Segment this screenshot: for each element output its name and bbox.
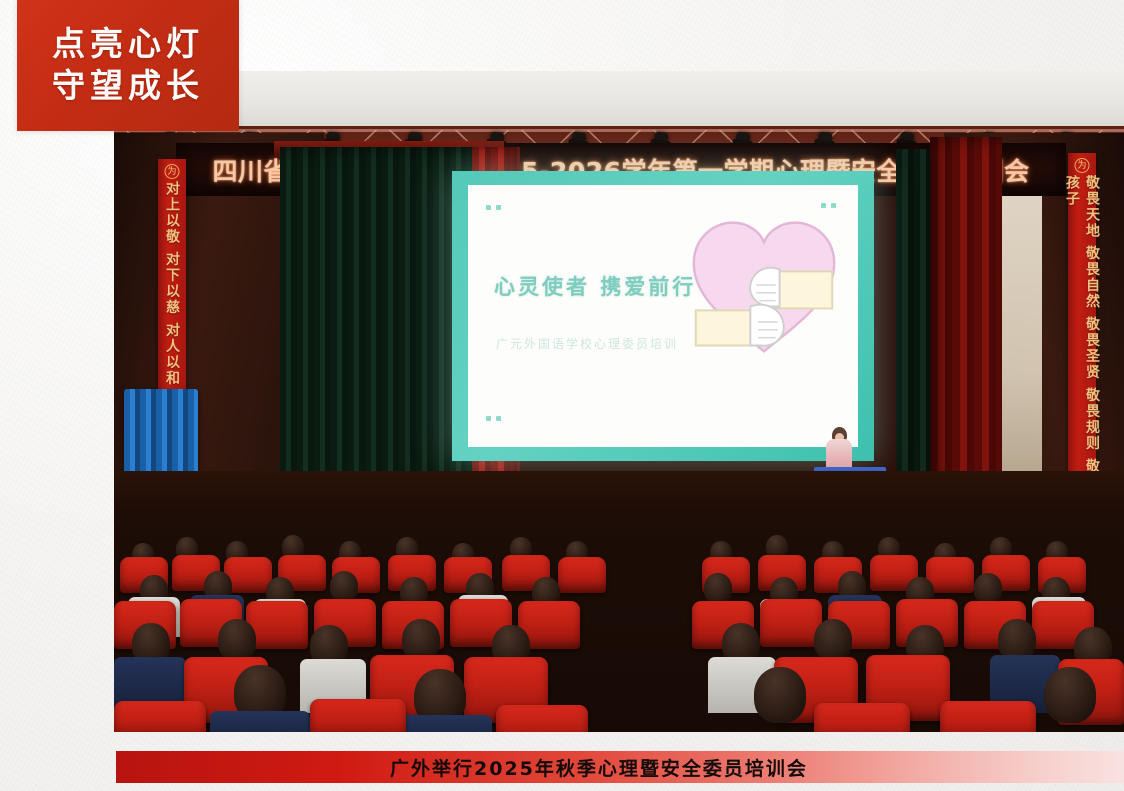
slide-title: 心灵使者 携爱前行 xyxy=(494,271,696,301)
seal-icon: 为 xyxy=(1075,158,1090,173)
event-photo: 四川省广元外国语学校2025-2026学年第一学期心理暨安全委员培训会 为 对上… xyxy=(114,71,1124,732)
title-line-1: 点亮心灯 xyxy=(52,25,204,64)
slide: 心灵使者 携爱前行 广元外国语学校心理委员培训 xyxy=(468,185,858,447)
caption-bar: 广外举行2025年秋季心理暨安全委员培训会 xyxy=(116,751,1124,783)
slide-dots-bottomleft xyxy=(486,416,501,421)
wall-banner-right-text: 敬畏天地 敬畏自然 敬畏圣贤 敬畏规则 敬畏孩子 xyxy=(1062,175,1102,503)
slide-dots-topright xyxy=(821,203,836,208)
title-line-2: 守望成长 xyxy=(52,67,204,106)
audience-area xyxy=(114,471,1124,732)
wall-banner-right: 为 敬畏天地 敬畏自然 敬畏圣贤 敬畏规则 敬畏孩子 xyxy=(1068,153,1096,503)
heart-hands-icon xyxy=(686,211,842,361)
title-banner: 点亮心灯 守望成长 xyxy=(17,0,239,131)
seal-icon: 为 xyxy=(165,164,180,179)
wall-panel-right xyxy=(1002,177,1042,507)
slide-dots-topleft xyxy=(486,205,501,210)
projection-screen: 心灵使者 携爱前行 广元外国语学校心理委员培训 xyxy=(452,171,874,461)
caption-text: 广外举行2025年秋季心理暨安全委员培训会 xyxy=(390,754,808,781)
slide-subtitle: 广元外国语学校心理委员培训 xyxy=(496,335,678,352)
hall-ceiling xyxy=(114,71,1124,133)
